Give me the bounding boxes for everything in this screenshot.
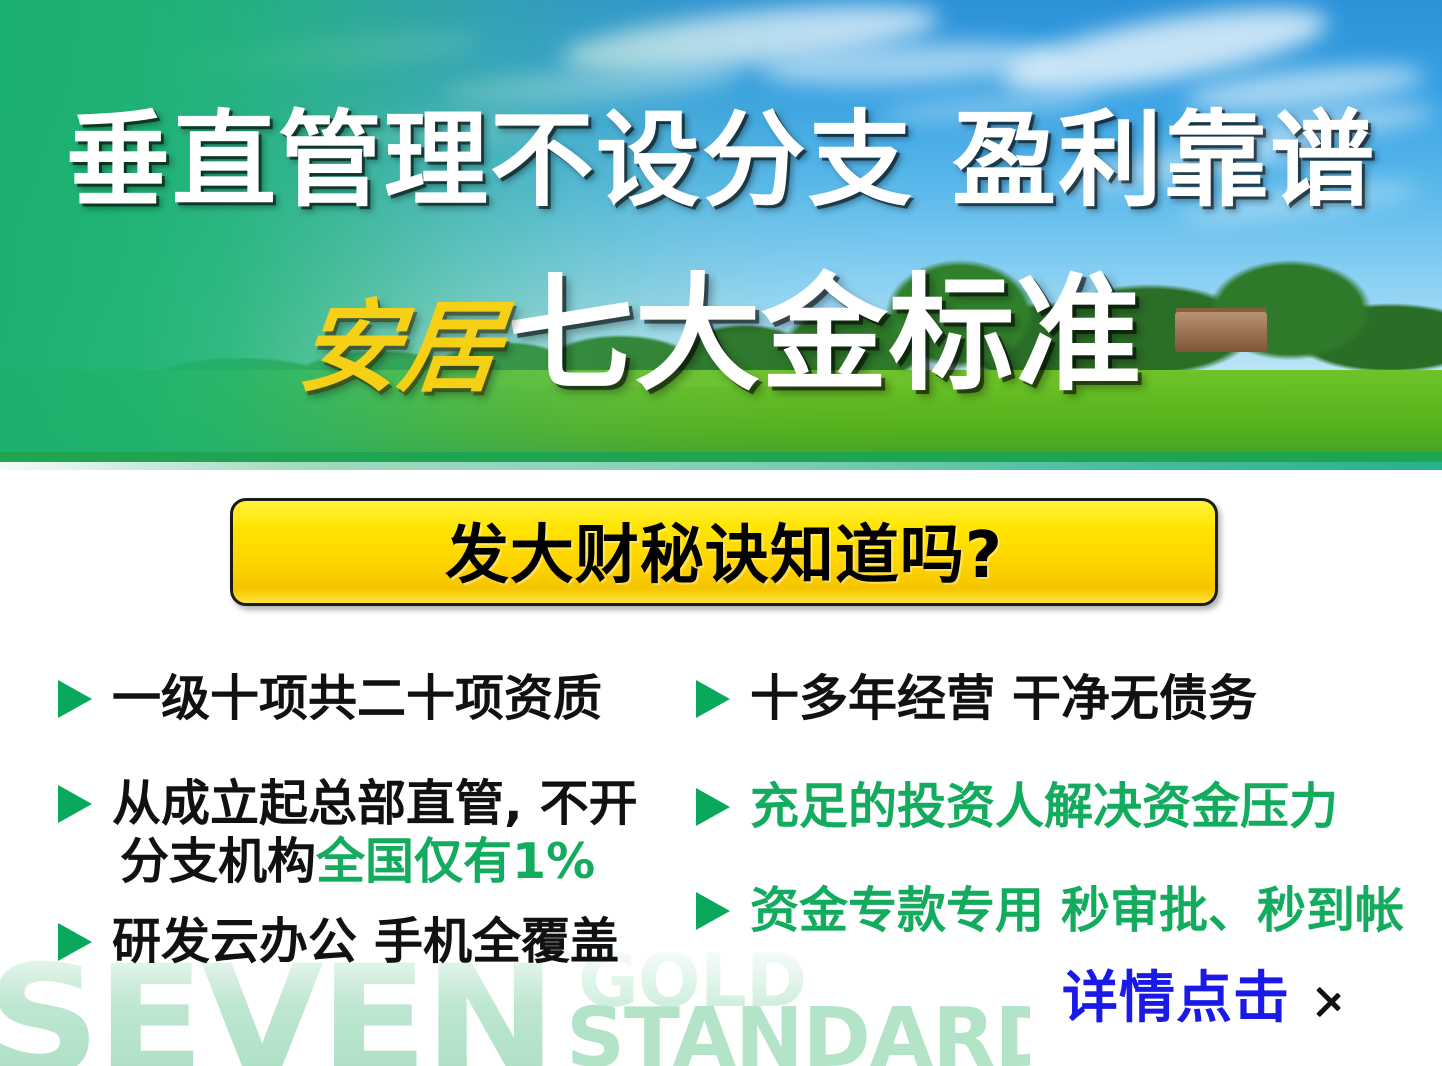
hero-bottom-green-bar	[0, 452, 1442, 462]
feature-item: 充足的投资人解决资金压力	[696, 778, 1338, 836]
details-cta-label: 详情点击	[1062, 968, 1290, 1030]
feature-item-label: 十多年经营 干净无债务	[750, 670, 1257, 728]
feature-item: 十多年经营 干净无债务	[696, 670, 1257, 728]
feature-item-label: 从成立起总部直管, 不开 分支机构全国仅有1%	[112, 775, 638, 891]
feature-item-line2-black: 分支机构	[120, 833, 316, 890]
hero-bottom-fade-bar	[0, 462, 1442, 470]
feature-item-label: 研发云办公 手机全覆盖	[112, 913, 619, 971]
triangle-bullet-icon	[696, 788, 730, 826]
brand-word: 安居	[294, 297, 505, 397]
hero-subheadline-row: 安居七大金标准	[0, 272, 1442, 398]
feature-item: 一级十项共二十项资质	[58, 670, 602, 728]
feature-item: 研发云办公 手机全覆盖	[58, 913, 619, 971]
triangle-bullet-icon	[696, 892, 730, 930]
watermark-standards: STANDARDS	[566, 998, 1030, 1066]
triangle-bullet-icon	[58, 680, 92, 718]
chevron-right-icon	[1316, 972, 1346, 1026]
triangle-bullet-icon	[58, 923, 92, 961]
hero-headline: 垂直管理不设分支 盈利靠谱	[0, 108, 1442, 212]
highlight-banner[interactable]: 发大财秘诀知道吗?	[230, 498, 1218, 606]
hero-banner: 垂直管理不设分支 盈利靠谱 安居七大金标准	[0, 0, 1442, 470]
advertisement-poster: 垂直管理不设分支 盈利靠谱 安居七大金标准 发大财秘诀知道吗? SEVEN GO…	[0, 0, 1442, 1066]
feature-item-line2-highlight: 全国仅有1%	[316, 833, 595, 890]
feature-item-label: 资金专款专用 秒审批、秒到帐	[750, 882, 1404, 940]
feature-item-line1: 从成立起总部直管, 不开	[112, 775, 638, 832]
hero-subheadline: 七大金标准	[508, 272, 1143, 398]
triangle-bullet-icon	[58, 785, 92, 823]
feature-item-label: 充足的投资人解决资金压力	[750, 778, 1338, 836]
highlight-banner-text: 发大财秘诀知道吗?	[445, 504, 1003, 596]
feature-list: 一级十项共二十项资质 从成立起总部直管, 不开 分支机构全国仅有1% 研发云办公…	[0, 660, 1442, 960]
details-cta-button[interactable]: 详情点击	[1062, 968, 1346, 1030]
triangle-bullet-icon	[696, 680, 730, 718]
feature-item-label: 一级十项共二十项资质	[112, 670, 602, 728]
feature-item: 从成立起总部直管, 不开 分支机构全国仅有1%	[58, 775, 638, 891]
feature-item: 资金专款专用 秒审批、秒到帐	[696, 882, 1404, 940]
feature-item-line2: 分支机构全国仅有1%	[120, 833, 638, 891]
